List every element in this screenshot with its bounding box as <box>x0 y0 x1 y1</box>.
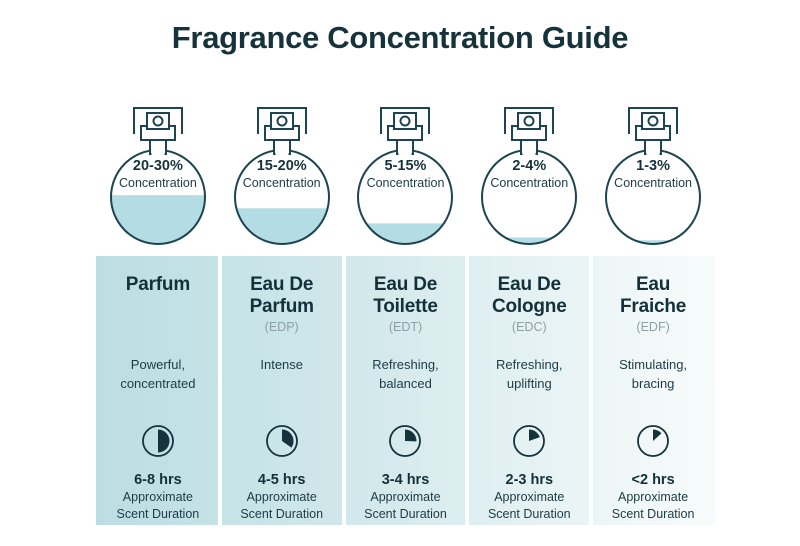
perfume-bottle-icon <box>108 100 208 248</box>
fragrance-description: Stimulating,bracing <box>619 356 687 396</box>
infographic-page: Fragrance Concentration Guide 20-30% Con… <box>0 0 800 546</box>
column-eau-de-cologne: Eau DeCologne (EDC) Refreshing,uplifting… <box>467 256 591 525</box>
column-eau-fraiche: EauFraiche (EDF) Stimulating,bracing <2 … <box>591 256 715 525</box>
duration-value: 4-5 hrs <box>258 472 306 489</box>
duration-pie-icon <box>265 424 299 458</box>
duration-value: 6-8 hrs <box>134 472 182 489</box>
bottle-item: 5-15% Concentration <box>344 100 468 248</box>
fragrance-abbr: (EDC) <box>512 320 547 336</box>
fragrance-description: Powerful,concentrated <box>120 356 195 396</box>
perfume-bottle-icon <box>355 100 455 248</box>
column-eau-de-parfum: Eau DeParfum (EDP) Intense 4-5 hrs Appro… <box>220 256 344 525</box>
fragrance-name: Parfum <box>126 274 190 320</box>
perfume-bottle-icon <box>603 100 703 248</box>
duration-value: 3-4 hrs <box>382 472 430 489</box>
comparison-panel: Parfum Powerful,concentrated 6-8 hrs App… <box>96 256 715 525</box>
duration-label: ApproximateScent Duration <box>612 489 695 523</box>
fragrance-description: Refreshing,uplifting <box>496 356 562 396</box>
fragrance-description: Refreshing,balanced <box>372 356 438 396</box>
bottle-item: 1-3% Concentration <box>591 100 715 248</box>
duration-label: ApproximateScent Duration <box>240 489 323 523</box>
duration-value: <2 hrs <box>632 472 675 489</box>
duration-value: 2-3 hrs <box>506 472 554 489</box>
fragrance-abbr: (EDF) <box>636 320 669 336</box>
fragrance-abbr: (EDP) <box>265 320 299 336</box>
duration-pie-icon <box>636 424 670 458</box>
bottle-item: 15-20% Concentration <box>220 100 344 248</box>
duration-label: ApproximateScent Duration <box>488 489 571 523</box>
fragrance-name: Eau DeToilette <box>373 274 438 320</box>
fragrance-name: EauFraiche <box>620 274 686 320</box>
duration-pie-icon <box>512 424 546 458</box>
fragrance-name: Eau DeCologne <box>492 274 567 320</box>
page-title: Fragrance Concentration Guide <box>0 20 800 56</box>
perfume-bottle-icon <box>232 100 332 248</box>
column-parfum: Parfum Powerful,concentrated 6-8 hrs App… <box>96 256 220 525</box>
fragrance-abbr: (EDT) <box>389 320 422 336</box>
bottle-item: 20-30% Concentration <box>96 100 220 248</box>
fragrance-description: Intense <box>260 356 303 396</box>
bottle-item: 2-4% Concentration <box>467 100 591 248</box>
bottle-row: 20-30% Concentration 15-20% Concentratio… <box>96 100 715 248</box>
perfume-bottle-icon <box>479 100 579 248</box>
duration-label: ApproximateScent Duration <box>364 489 447 523</box>
duration-pie-icon <box>141 424 175 458</box>
duration-label: ApproximateScent Duration <box>117 489 200 523</box>
column-eau-de-toilette: Eau DeToilette (EDT) Refreshing,balanced… <box>344 256 468 525</box>
duration-pie-icon <box>388 424 422 458</box>
fragrance-name: Eau DeParfum <box>250 274 314 320</box>
